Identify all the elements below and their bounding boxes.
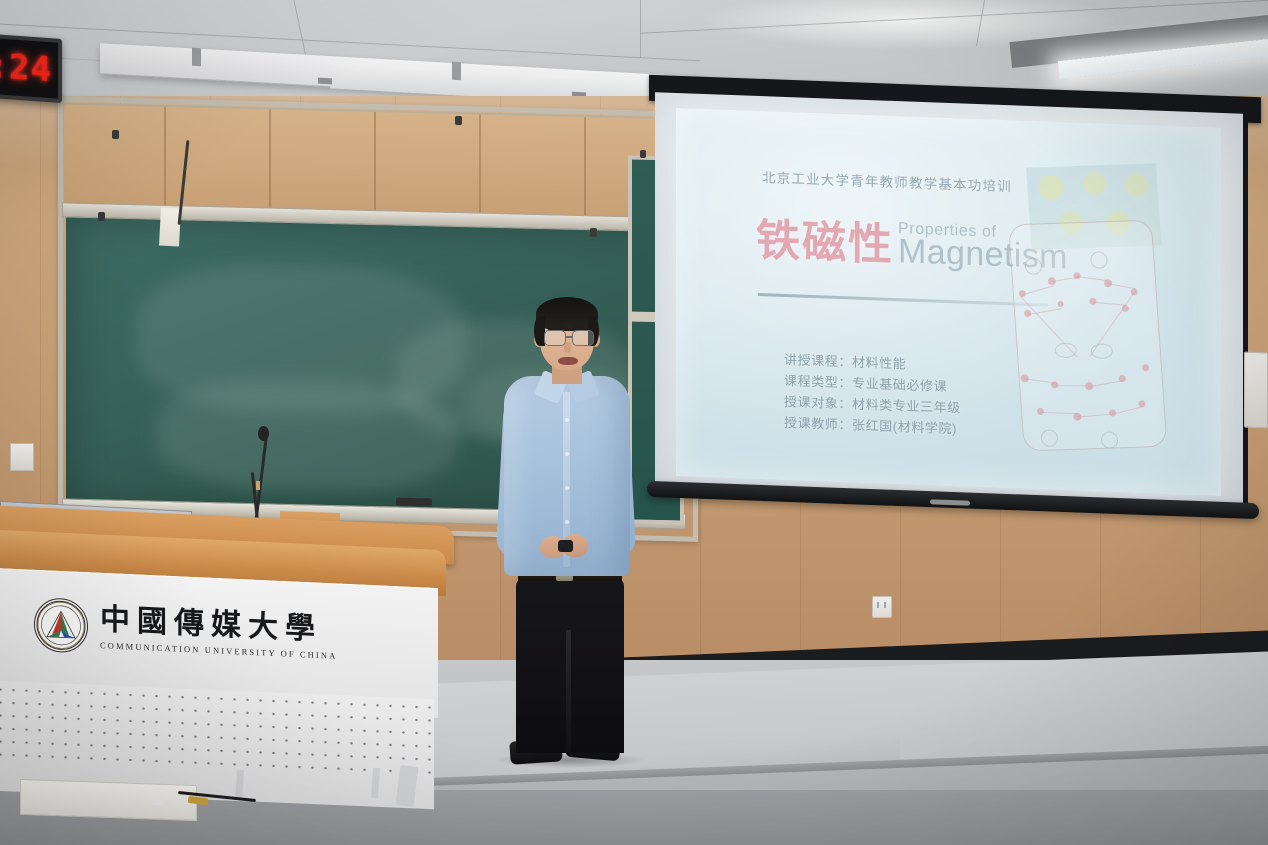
- university-name-chinese: 中國傳媒大學: [100, 605, 337, 646]
- clock-display: :24: [0, 46, 58, 91]
- wall-outlet-icon[interactable]: [872, 596, 892, 618]
- cuc-seal-icon: [34, 597, 88, 653]
- mouth: [558, 357, 578, 365]
- ceiling-tile-seam: [640, 0, 641, 58]
- led-wall-clock: :24: [0, 33, 62, 103]
- presenter: [478, 300, 648, 770]
- side-chalkboard-knob[interactable]: [640, 150, 646, 158]
- chalkboard-eraser[interactable]: [396, 498, 432, 507]
- paper-stack: [20, 779, 197, 821]
- microphone-band: [256, 481, 260, 490]
- wall-control-plate[interactable]: [1244, 352, 1268, 429]
- chalkboard-knob[interactable]: [112, 130, 119, 139]
- chalkboard-knob[interactable]: [590, 228, 597, 237]
- presenter-remote[interactable]: [558, 540, 573, 552]
- projected-slide: 北京工业大学青年教师教学基本功培训 铁磁性 Properties of Magn…: [676, 108, 1221, 496]
- microphone-icon[interactable]: [258, 426, 269, 441]
- glasses-bridge: [565, 336, 573, 338]
- glasses-lens-left: [544, 330, 566, 346]
- chalkboard-knob[interactable]: [455, 116, 462, 125]
- light-rail-fitting: [318, 78, 332, 85]
- nose: [564, 342, 571, 353]
- trouser-seam: [566, 630, 571, 752]
- cable-tip: [152, 800, 163, 805]
- chalkboard-knob[interactable]: [98, 212, 105, 221]
- wall-switch-plate[interactable]: [10, 443, 34, 471]
- lecture-hall-photo: 北京工业大学青年教师教学基本功培训 铁磁性 Properties of Magn…: [0, 0, 1268, 845]
- lattice-diagram-icon: [996, 162, 1206, 458]
- slide-info-block: 讲授课程：材料性能 课程类型：专业基础必修课 授课对象：材料类专业三年级 授课教…: [784, 349, 961, 439]
- light-rail-hanger: [452, 62, 461, 80]
- glasses-lens-right: [572, 330, 594, 346]
- slide-title-chinese: 铁磁性: [756, 219, 894, 268]
- light-rail-hanger: [192, 48, 201, 66]
